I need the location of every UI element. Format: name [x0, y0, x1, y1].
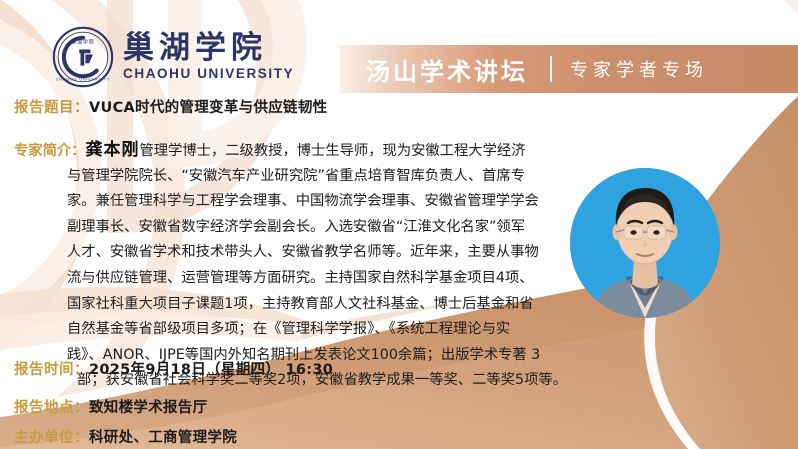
poster-canvas: 巢湖学院 CHAOHU UNIVERSITY 巢湖学院 CHAOHU UNIVE… [0, 0, 798, 449]
speaker-portrait-image [570, 168, 720, 318]
time-value: 2025年9月18日（星期四） 16:30 [89, 362, 333, 378]
topic-label: 报告题目： [14, 100, 89, 116]
venue-row: 报告地点：致知楼学术报告厅 [14, 398, 207, 420]
time-label: 报告时间： [14, 362, 89, 378]
bio-line-4: 人才、安徽省学术和技术带头人、安徽省教学名师等。近年来，主要从事物 [14, 240, 570, 266]
bio-line-6: 国家社科重大项目子课题1项，主持教育部人文社科基金、博士后基金和省 [14, 292, 570, 318]
speaker-name: 龚本刚 [85, 140, 139, 160]
bio-line-1: 与管理学院院长、“安徽汽车产业研究院”省重点培育智库负责人、首席专 [14, 164, 570, 190]
bio-line-2: 家。兼任管理科学与工程学会理事、中国物流学会理事、安徽省管理学学会 [14, 189, 570, 215]
bio-line-3: 副理事长、安徽省数字经济学会副会长。入选安徽省“江淮文化名家”领军 [14, 215, 570, 241]
speaker-portrait [570, 168, 720, 318]
bio-line-7: 自然基金等省部级项目多项；在《管理科学学报》、《系统工程理论与实 [14, 317, 570, 343]
organizer-value: 科研处、工商管理学院 [89, 430, 237, 446]
venue-label: 报告地点： [14, 400, 89, 416]
bio-line-first: 专家简介：龚本刚管理学博士，二级教授，博士生导师，现为安徽工程大学经济 [14, 138, 570, 164]
topic-value: VUCA时代的管理变革与供应链韧性 [89, 100, 327, 116]
topic-row: 报告题目：VUCA时代的管理变革与供应链韧性 [14, 98, 327, 120]
organizer-row: 主办单位：科研处、工商管理学院 [14, 428, 237, 449]
bio-label: 专家简介： [14, 143, 85, 159]
speaker-bio-block: 专家简介：龚本刚管理学博士，二级教授，博士生导师，现为安徽工程大学经济 与管理学… [14, 138, 570, 394]
bio-line-0: 管理学博士，二级教授，博士生导师，现为安徽工程大学经济 [139, 143, 525, 159]
bio-line-5: 流与供应链管理、运营管理等方面研究。主持国家自然科学基金项目4项、 [14, 266, 570, 292]
venue-value: 致知楼学术报告厅 [89, 400, 207, 416]
organizer-label: 主办单位： [14, 430, 89, 446]
time-row: 报告时间：2025年9月18日（星期四） 16:30 [14, 360, 333, 382]
